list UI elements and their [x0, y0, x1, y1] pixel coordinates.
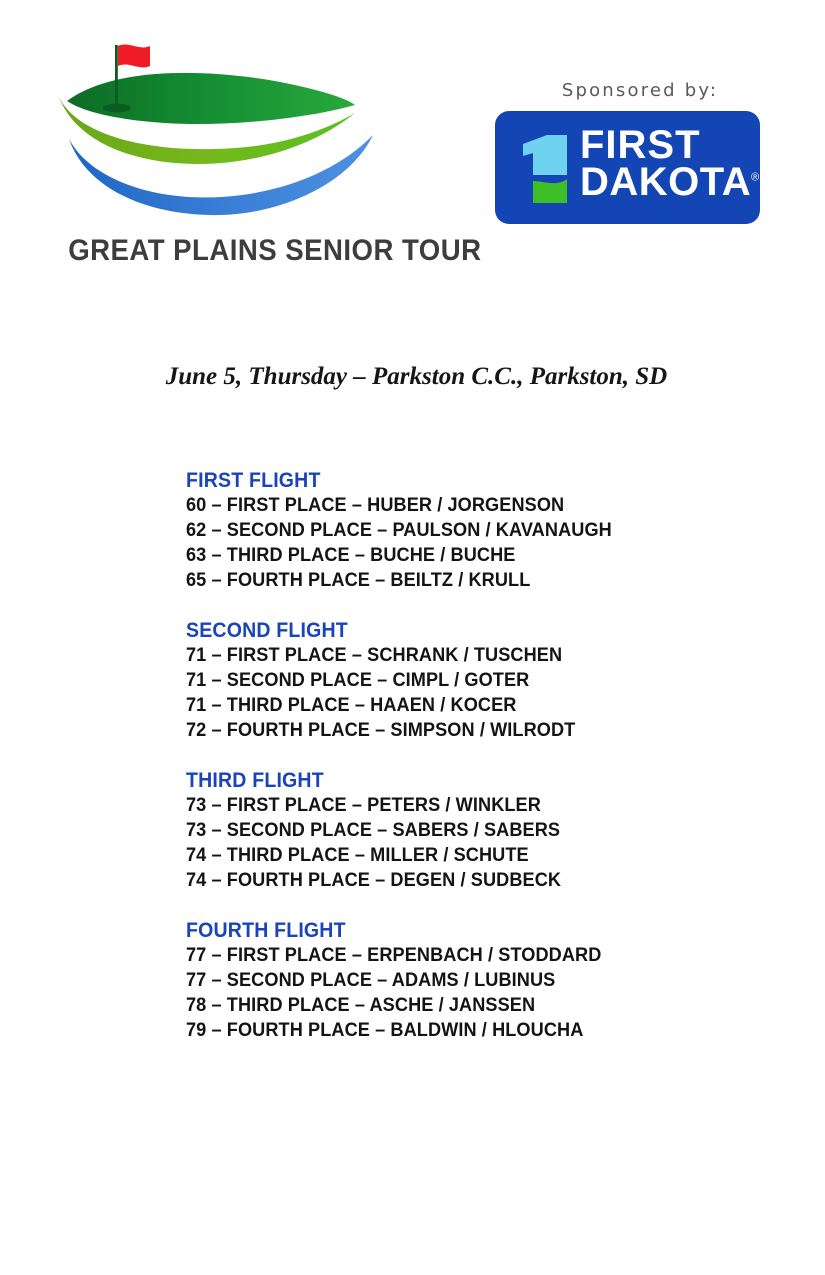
event-date-location: June 5, Thursday – Parkston C.C., Parkst…	[0, 363, 825, 391]
first-dakota-mark-icon	[517, 131, 567, 207]
first-dakota-line1: FIRST	[580, 127, 760, 164]
flight-result-row: 73 – SECOND PLACE – SABERS / SABERS	[186, 818, 707, 843]
flight-title: THIRD FLIGHT	[186, 768, 707, 793]
flight-result-row: 73 – FIRST PLACE – PETERS / WINKLER	[186, 793, 707, 818]
page-header: GREAT PLAINS SENIOR TOUR Sponsored by: F…	[0, 0, 825, 300]
flight-result-row: 71 – FIRST PLACE – SCHRANK / TUSCHEN	[186, 643, 707, 668]
flight-result-row: 63 – THIRD PLACE – BUCHE / BUCHE	[186, 543, 707, 568]
flight-section: FIRST FLIGHT 60 – FIRST PLACE – HUBER / …	[186, 468, 746, 593]
flight-title: FOURTH FLIGHT	[186, 918, 707, 943]
sponsored-by-label: Sponsored by:	[470, 80, 790, 101]
first-dakota-wordmark: FIRST DAKOTA®	[580, 127, 760, 201]
first-dakota-logo: FIRST DAKOTA®	[495, 111, 760, 224]
tour-logo-wordmark: GREAT PLAINS SENIOR TOUR	[68, 234, 372, 268]
flight-result-row: 62 – SECOND PLACE – PAULSON / KAVANAUGH	[186, 518, 707, 543]
flight-result-row: 74 – FOURTH PLACE – DEGEN / SUDBECK	[186, 868, 707, 893]
results-list: FIRST FLIGHT 60 – FIRST PLACE – HUBER / …	[186, 468, 746, 1043]
flight-result-row: 65 – FOURTH PLACE – BEILTZ / KRULL	[186, 568, 707, 593]
flight-result-row: 72 – FOURTH PLACE – SIMPSON / WILRODT	[186, 718, 707, 743]
flight-title: SECOND FLIGHT	[186, 618, 707, 643]
flight-result-row: 71 – THIRD PLACE – HAAEN / KOCER	[186, 693, 707, 718]
flight-section: FOURTH FLIGHT 77 – FIRST PLACE – ERPENBA…	[186, 918, 746, 1043]
flight-result-row: 77 – SECOND PLACE – ADAMS / LUBINUS	[186, 968, 707, 993]
sponsor-block: Sponsored by: FIRST DAKOTA®	[470, 80, 790, 224]
golf-green-flag-icon	[55, 35, 385, 230]
first-dakota-line2: DAKOTA	[580, 160, 751, 204]
flight-title: FIRST FLIGHT	[186, 468, 707, 493]
flight-result-row: 74 – THIRD PLACE – MILLER / SCHUTE	[186, 843, 707, 868]
flight-result-row: 60 – FIRST PLACE – HUBER / JORGENSON	[186, 493, 707, 518]
flight-result-row: 77 – FIRST PLACE – ERPENBACH / STODDARD	[186, 943, 707, 968]
tour-logo: GREAT PLAINS SENIOR TOUR	[55, 35, 385, 275]
flight-result-row: 71 – SECOND PLACE – CIMPL / GOTER	[186, 668, 707, 693]
registered-trademark-icon: ®	[751, 171, 760, 183]
flight-section: SECOND FLIGHT 71 – FIRST PLACE – SCHRANK…	[186, 618, 746, 743]
flight-section: THIRD FLIGHT 73 – FIRST PLACE – PETERS /…	[186, 768, 746, 893]
flight-result-row: 79 – FOURTH PLACE – BALDWIN / HLOUCHA	[186, 1018, 707, 1043]
flight-result-row: 78 – THIRD PLACE – ASCHE / JANSSEN	[186, 993, 707, 1018]
